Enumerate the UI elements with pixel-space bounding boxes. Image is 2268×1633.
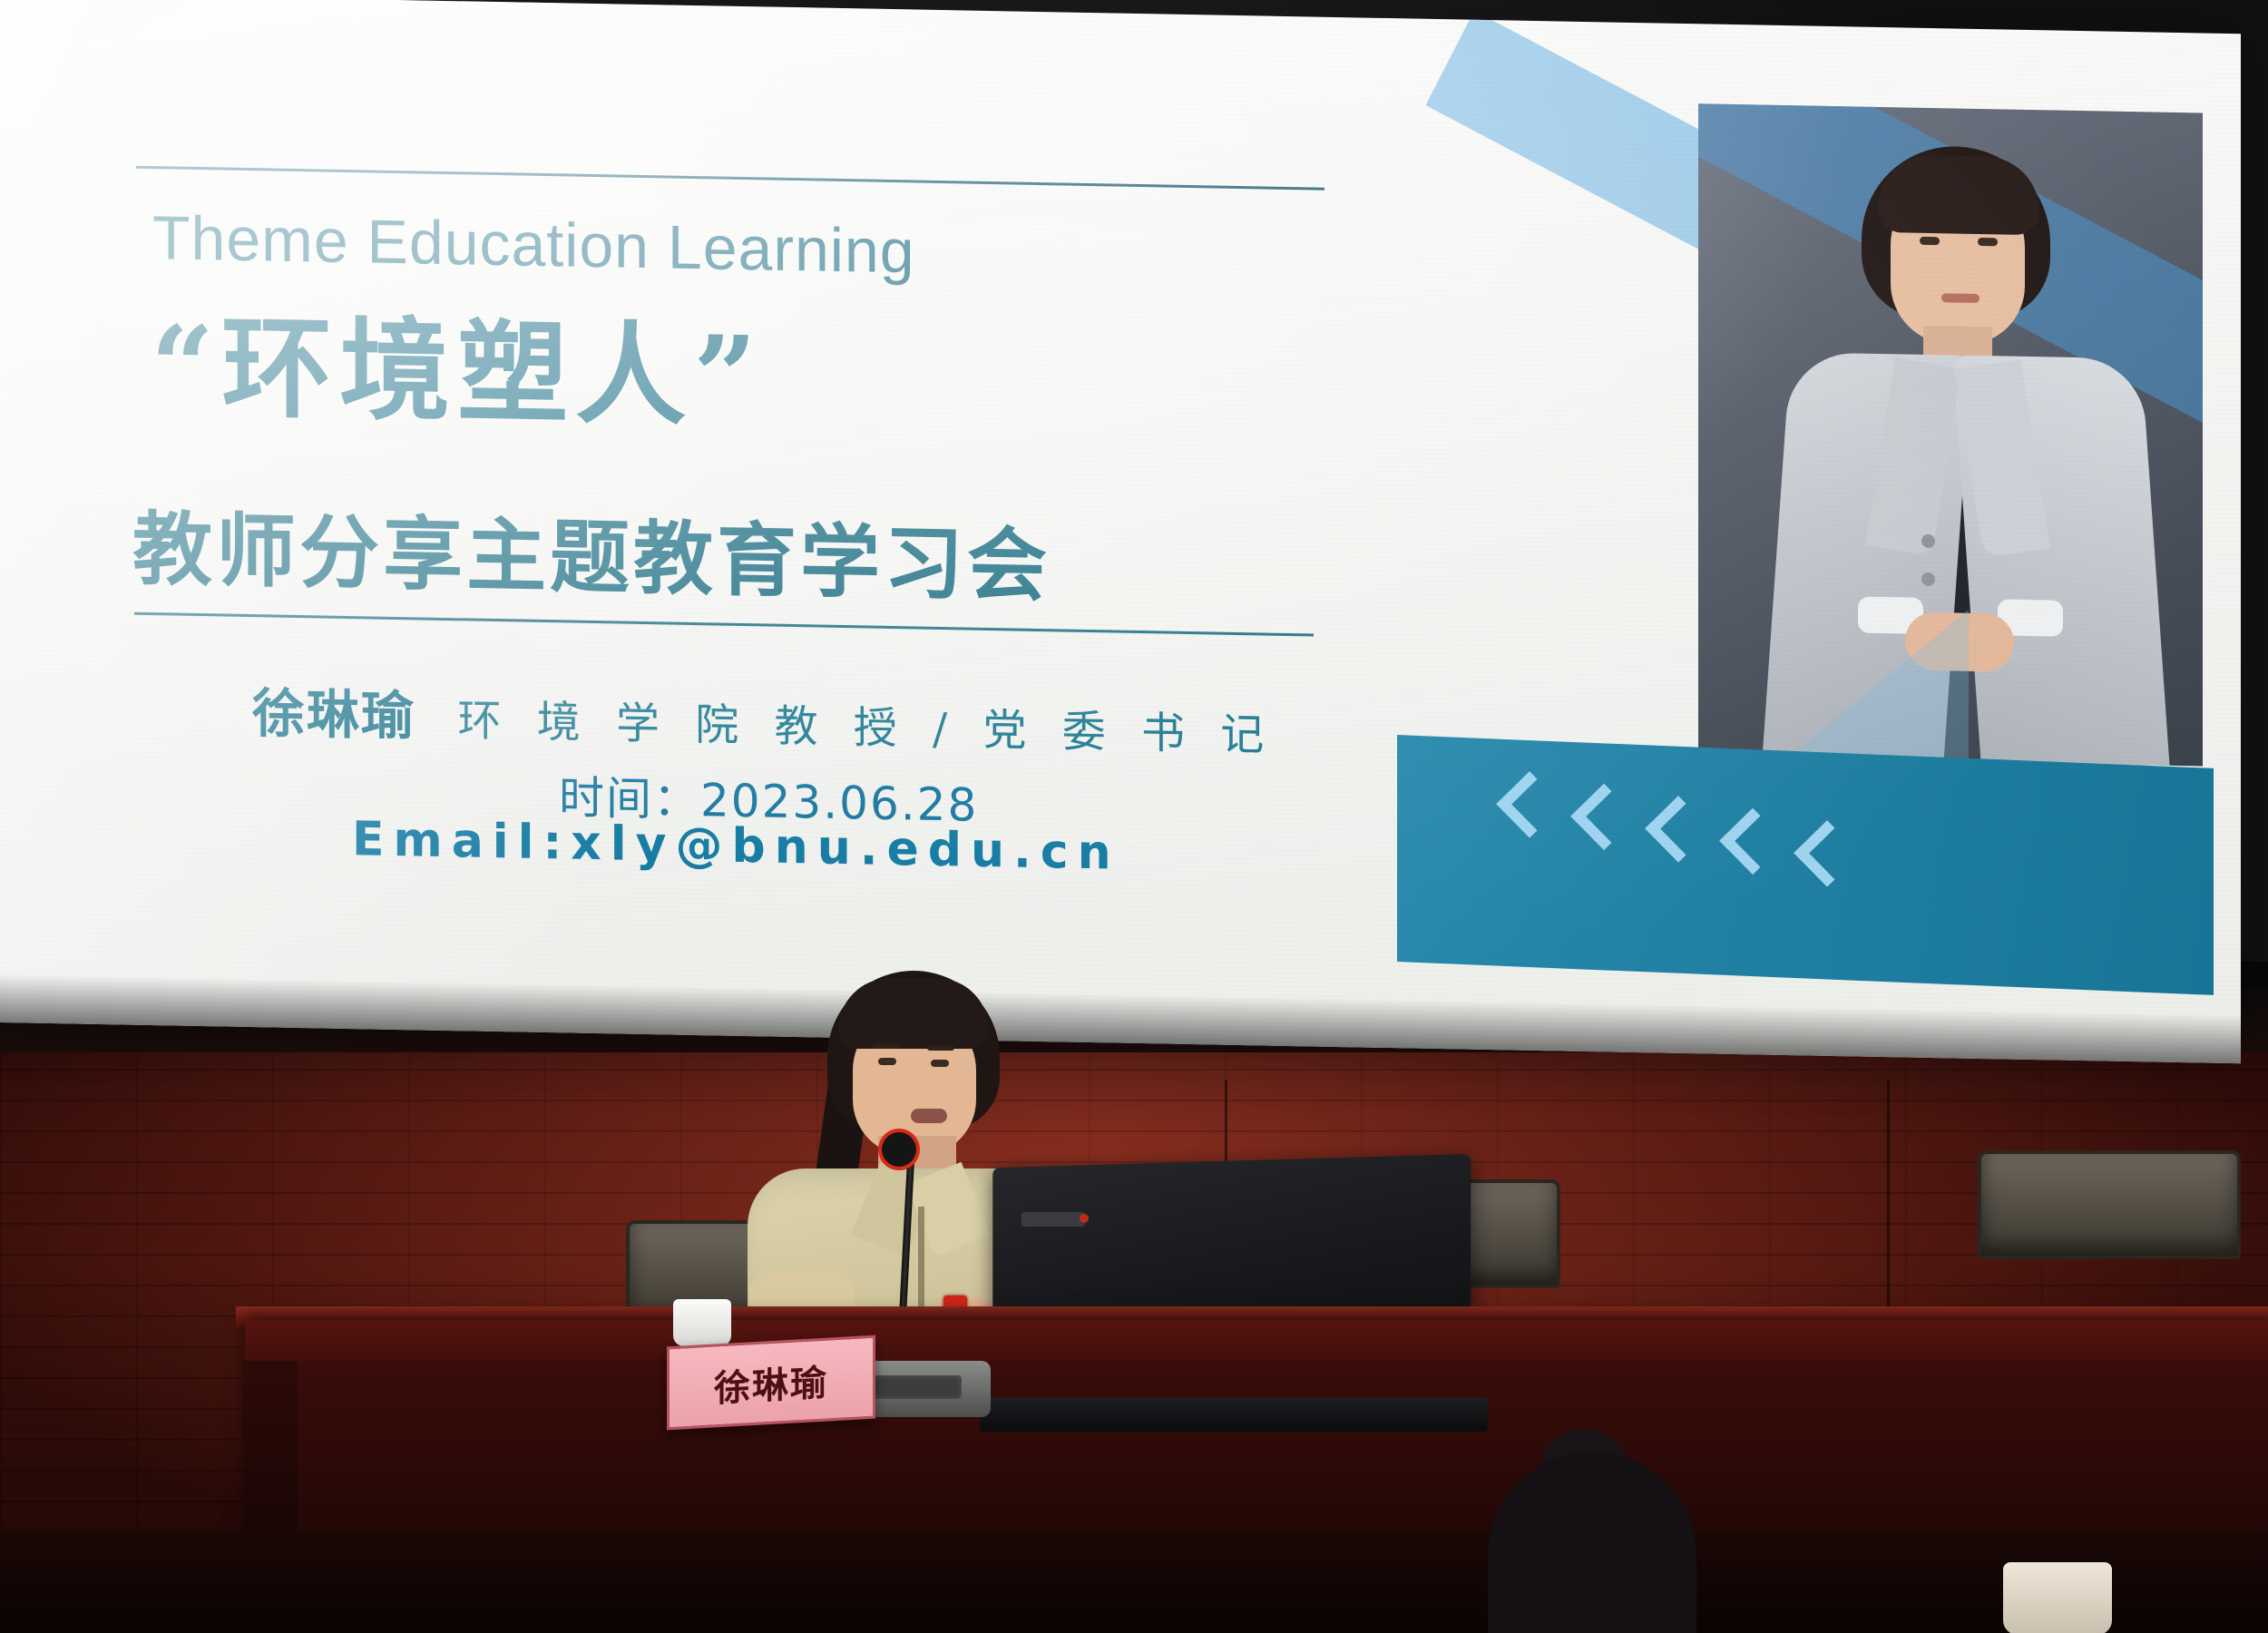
portrait-jacket-button-top [1921, 534, 1935, 548]
desk-base-shadow [0, 1533, 2268, 1633]
chevron-left-icon [1645, 796, 1712, 863]
speaker-eyebrow-left [873, 1043, 900, 1049]
slide-subtitle-chinese: 教师分享主题教育学习会 [132, 485, 1051, 618]
projection-screen: Theme Education Learning “环境塑人” 教师分享主题教育… [0, 0, 2241, 1063]
nameplate-text: 徐琳瑜 [714, 1353, 828, 1412]
foreground-paper-cup [2003, 1562, 2112, 1633]
portrait-jacket-button-bottom [1921, 572, 1935, 586]
speaker-mouth [911, 1109, 947, 1123]
laptop-logo-dot-icon [1080, 1214, 1089, 1223]
presenter-name: 徐琳瑜 [252, 682, 415, 747]
speaker-eye-left [878, 1058, 896, 1065]
portrait-hair-front [1878, 154, 2039, 235]
portrait-eye-left [1920, 237, 1940, 245]
microphone-head [882, 1132, 916, 1167]
laptop-logo [1022, 1212, 1085, 1227]
chevron-left-icon [1496, 771, 1563, 838]
presenter-title: 环 境 学 院 教 授 / 党 委 书 记 [457, 695, 1275, 761]
screenshot-root: Theme Education Learning “环境塑人” 教师分享主题教育… [0, 0, 2268, 1633]
chevron-left-icon [1719, 808, 1786, 875]
presenter-line: 徐琳瑜 环 境 学 院 教 授 / 党 委 书 记 [252, 670, 1275, 766]
speaker-hair-fringe [838, 978, 989, 1049]
laptop-keyboard-base[interactable] [980, 1397, 1488, 1432]
chevron-left-icon [1570, 784, 1637, 851]
chair-far-right [1978, 1150, 2241, 1259]
slide-eyebrow-text: Theme Education Learning [152, 202, 915, 287]
slide-top-rule [136, 166, 1325, 191]
portrait-mouth [1941, 293, 1980, 303]
speaker-eye-right [931, 1060, 949, 1067]
slide-bottom-rule [134, 612, 1314, 637]
slide-email-line: Email:xly@bnu.edu.cn [352, 812, 1120, 881]
slide-title-chinese: “环境塑人” [151, 277, 764, 448]
chevron-group [1506, 780, 1851, 877]
paper-cup [673, 1299, 731, 1346]
portrait-eye-right [1978, 238, 1998, 246]
speaker-eyebrow-right [927, 1045, 954, 1051]
desk-nameplate: 徐琳瑜 [667, 1335, 875, 1431]
